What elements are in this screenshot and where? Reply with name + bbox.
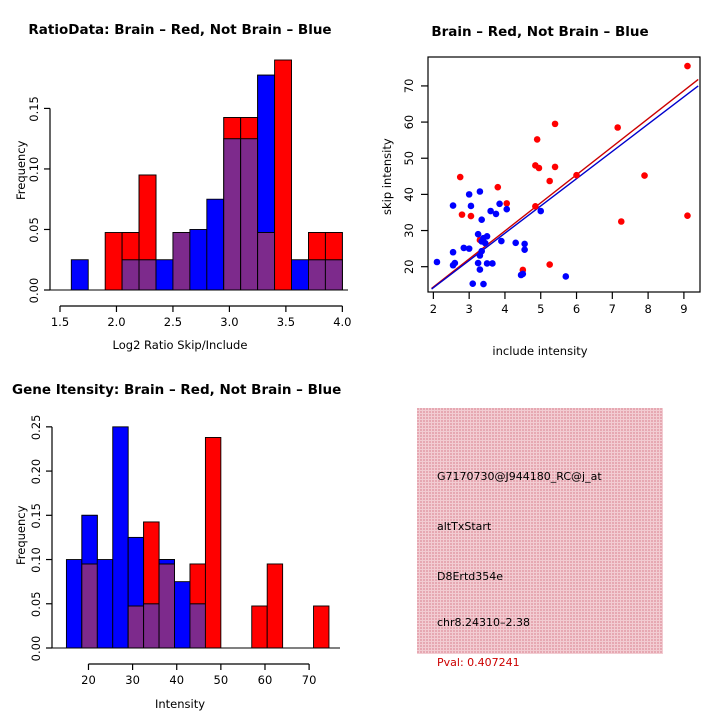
info-probe-id: G7170730@J944180_RC@j_at [437,470,602,483]
gene-histogram-panel: Gene Itensity: Brain – Red, Not Brain – … [0,360,360,720]
scatter-point [552,164,559,171]
ratio-xtick-label: 1.5 [51,315,69,329]
scatter-fit-line [432,79,699,288]
gene-ytick-label: 0.20 [29,459,43,485]
ratio-ytick-label: 0.05 [27,217,41,243]
info-locus: chr8.24310–2.38 [437,616,530,629]
ratio-bar-top [258,75,275,232]
ratio-bar-overlap [325,260,342,290]
scatter-point [489,260,496,267]
scatter-point [546,178,553,185]
gene-bar-top [128,537,143,606]
gene-xtick-label: 70 [302,673,317,687]
gene-ytick-label: 0.10 [29,547,43,573]
scatter-point [536,165,543,172]
scatter-xtick-label: 4 [501,302,508,316]
gene-bar-blue [175,582,190,648]
scatter-ytick-label: 70 [402,79,416,94]
scatter-point [546,261,553,268]
gene-xtick-label: 50 [214,673,229,687]
scatter-xtick-label: 3 [465,302,472,316]
scatter-point [537,208,544,215]
scatter-xlabel: include intensity [360,344,720,358]
scatter-point [573,172,580,179]
scatter-point [562,273,569,280]
scatter-point [496,200,503,207]
scatter-point [618,218,625,225]
ratio-xtick-label: 3.0 [220,315,238,329]
ratio-xtick-label: 3.5 [277,315,295,329]
ratio-ytick-label: 0.00 [27,278,41,304]
ratio-bar-blue [207,199,224,290]
ratio-histogram-panel: RatioData: Brain – Red, Not Brain – Blue… [0,0,360,360]
gene-ytick-label: 0.00 [29,636,43,662]
scatter-point [684,212,691,219]
ratio-plot-group: 0.000.050.100.151.52.02.53.03.54.0 [27,60,352,329]
gene-xtick-label: 30 [125,673,140,687]
scatter-point [521,241,528,248]
ratio-bar-blue [190,229,207,290]
ratio-bar-red [275,60,292,290]
ratio-bar-blue [292,260,309,290]
scatter-xtick-label: 2 [430,302,437,316]
scatter-panel: Brain – Red, Not Brain – Blue skip inten… [360,0,720,360]
gene-bar-blue [66,560,81,648]
scatter-point [469,280,476,287]
gene-bar-overlap [82,564,97,648]
scatter-point [450,262,457,269]
scatter-point [480,281,487,288]
scatter-point [503,206,510,213]
scatter-point [450,202,457,209]
ratio-bar-top [139,175,156,260]
scatter-fit-line [432,86,699,289]
gene-xtick-label: 40 [169,673,184,687]
scatter-point [434,259,441,266]
scatter-ytick-label: 30 [402,223,416,238]
scatter-point [521,246,528,253]
scatter-xtick-label: 6 [573,302,580,316]
scatter-point [478,216,485,223]
gene-histogram-canvas: 0.000.050.100.150.200.25203040506070 [0,360,360,690]
scatter-canvas: 20304050607023456789 [360,0,720,340]
scatter-xtick-label: 5 [537,302,544,316]
gene-bar-blue [97,560,112,648]
ratio-bar-top [224,118,241,139]
scatter-plot-group: 20304050607023456789 [402,57,700,316]
ratio-bar-blue [71,260,88,290]
gene-xtick-label: 60 [258,673,273,687]
scatter-ytick-label: 60 [402,115,416,130]
gene-bar-top [144,522,159,604]
gene-ytick-label: 0.25 [29,415,43,441]
gene-xtick-label: 20 [81,673,96,687]
info-event-type: altTxStart [437,520,491,533]
ratio-ytick-label: 0.15 [27,96,41,122]
scatter-point [468,213,475,220]
gene-bar-red [314,606,329,648]
gene-bar-top [190,564,205,604]
ratio-bar-overlap [139,260,156,290]
ratio-xtick-label: 2.5 [164,315,182,329]
scatter-ytick-label: 50 [402,151,416,166]
ratio-bar-overlap [241,139,258,290]
scatter-point [641,172,648,179]
gene-bar-overlap [144,604,159,648]
ratio-ytick-label: 0.10 [27,157,41,183]
gene-ytick-label: 0.15 [29,503,43,529]
ratio-bar-red [105,233,122,291]
info-pvalue: Pval: 0.407241 [437,656,520,669]
gene-bar-top [159,560,174,564]
scatter-point [457,174,464,181]
gene-bar-red [252,606,267,648]
scatter-point [475,231,482,238]
scatter-point [552,121,559,128]
ratio-bar-top [325,233,342,260]
scatter-point [466,191,473,198]
scatter-point [468,203,475,210]
scatter-point [684,63,691,70]
ratio-bar-top [308,233,325,260]
scatter-frame [428,57,700,292]
ratio-histogram-canvas: 0.000.050.100.151.52.02.53.03.54.0 [0,0,360,330]
scatter-point [503,200,510,207]
scatter-point [532,203,539,210]
scatter-point [466,245,473,252]
gene-bar-blue [113,427,128,648]
gene-bar-overlap [190,604,205,648]
gene-bar-top [82,515,97,564]
scatter-inner [432,63,699,289]
scatter-point [459,211,466,218]
scatter-point [518,272,525,279]
scatter-point [493,211,500,218]
ratio-bar-overlap [122,260,139,290]
gene-bar-red [267,564,282,648]
scatter-point [475,260,482,267]
scatter-point [482,240,489,247]
gene-ytick-label: 0.05 [29,591,43,617]
scatter-point [534,136,541,143]
gene-info-panel: G7170730@J944180_RC@j_at altTxStart D8Er… [360,360,720,720]
ratio-bar-top [241,118,258,139]
gene-bar-overlap [159,564,174,648]
gene-bar-overlap [128,606,143,648]
ratio-bar-overlap [258,233,275,291]
scatter-xtick-label: 8 [644,302,651,316]
scatter-point [477,252,484,259]
info-gene-symbol: D8Ertd354e [437,570,503,583]
scatter-point [450,249,457,256]
scatter-point [477,266,484,273]
ratio-xtick-label: 4.0 [333,315,351,329]
scatter-point [512,240,519,247]
ratio-histogram-xlabel: Log2 Ratio Skip/Include [0,338,360,352]
scatter-ytick-label: 20 [402,259,416,274]
scatter-point [494,184,501,191]
ratio-bar-overlap [173,233,190,291]
gene-histogram-xlabel: Intensity [0,697,360,711]
gene-bar-red [205,437,220,648]
ratio-xtick-label: 2.0 [107,315,125,329]
scatter-xtick-label: 9 [680,302,687,316]
gene-info-box: G7170730@J944180_RC@j_at altTxStart D8Er… [417,408,663,654]
scatter-point [498,238,505,245]
ratio-bar-top [122,233,139,260]
ratio-bar-blue [156,260,173,290]
scatter-ytick-label: 40 [402,187,416,202]
scatter-xtick-label: 7 [609,302,616,316]
scatter-point [477,188,484,195]
ratio-bar-overlap [308,260,325,290]
ratio-bar-overlap [224,139,241,290]
gene-plot-group: 0.000.050.100.150.200.25203040506070 [29,415,340,687]
scatter-point [614,124,621,131]
